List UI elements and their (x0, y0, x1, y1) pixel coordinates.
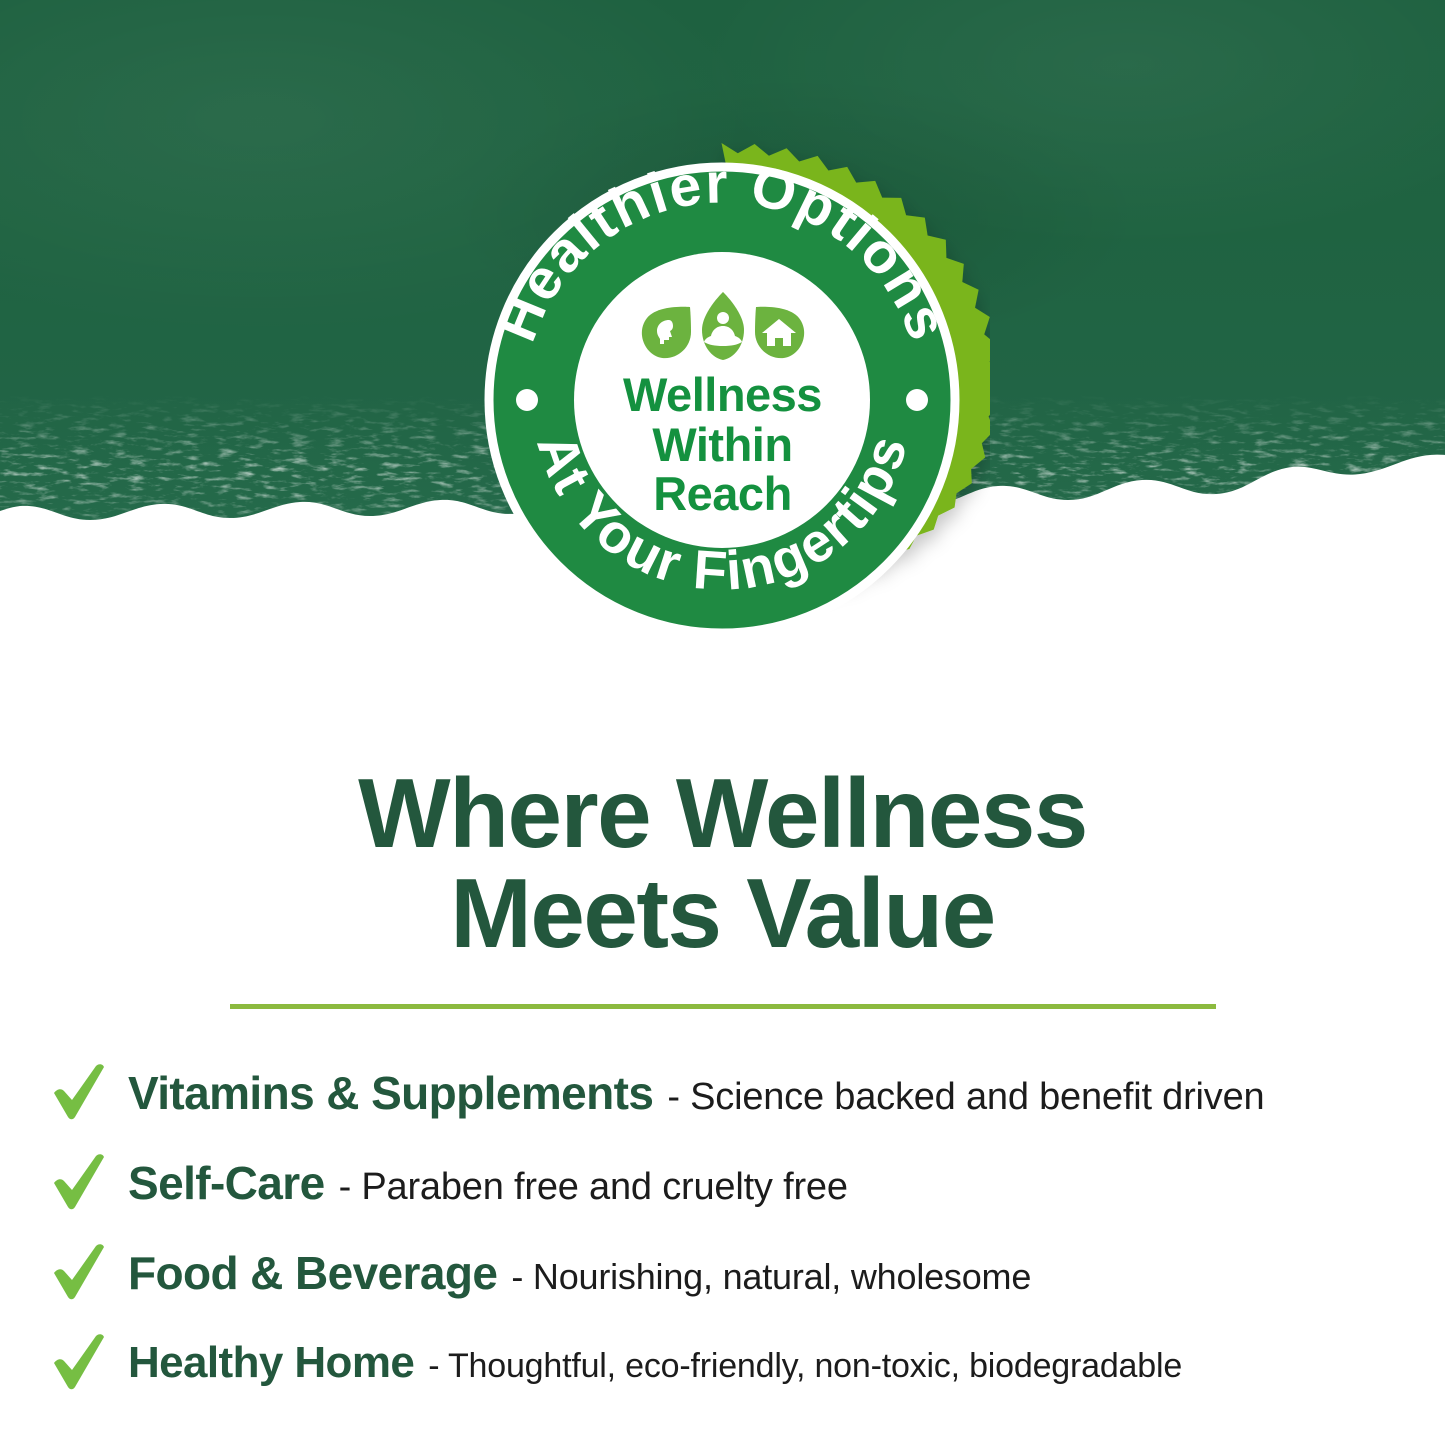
list-item-text: Vitamins & Supplements - Science backed … (128, 1066, 1264, 1120)
headline-line-2: Meets Value (0, 864, 1445, 964)
list-item: Food & Beverage - Nourishing, natural, w… (0, 1228, 1445, 1318)
badge-graphic: Healthier Options At Your Fingertips (455, 133, 990, 668)
list-item-term: Vitamins & Supplements (128, 1066, 653, 1120)
list-item-desc: - Science backed and benefit driven (667, 1076, 1264, 1119)
benefits-list: Vitamins & Supplements - Science backed … (0, 1048, 1445, 1408)
wellness-badge: Healthier Options At Your Fingertips (455, 133, 990, 668)
promo-page: Healthier Options At Your Fingertips (0, 0, 1445, 1445)
badge-dot-left (516, 389, 538, 411)
list-item-term: Healthy Home (128, 1338, 414, 1388)
list-item-text: Self-Care - Paraben free and cruelty fre… (128, 1156, 848, 1210)
list-item-term: Food & Beverage (128, 1246, 497, 1300)
list-item-desc: - Paraben free and cruelty free (339, 1166, 848, 1209)
check-icon (48, 1240, 110, 1302)
list-item-text: Food & Beverage - Nourishing, natural, w… (128, 1246, 1031, 1300)
list-item: Healthy Home - Thoughtful, eco-friendly,… (0, 1318, 1445, 1408)
list-item-term: Self-Care (128, 1156, 325, 1210)
check-icon (48, 1150, 110, 1212)
list-item-desc: - Nourishing, natural, wholesome (511, 1256, 1031, 1298)
check-icon (48, 1060, 110, 1122)
headline-line-1: Where Wellness (358, 758, 1087, 868)
list-item-desc: - Thoughtful, eco-friendly, non-toxic, b… (428, 1347, 1182, 1386)
page-title: Where Wellness Meets Value (0, 764, 1445, 964)
badge-dot-right (906, 389, 928, 411)
list-item: Self-Care - Paraben free and cruelty fre… (0, 1138, 1445, 1228)
list-item: Vitamins & Supplements - Science backed … (0, 1048, 1445, 1138)
list-item-text: Healthy Home - Thoughtful, eco-friendly,… (128, 1338, 1182, 1388)
check-icon (48, 1330, 110, 1392)
divider (230, 1004, 1216, 1009)
